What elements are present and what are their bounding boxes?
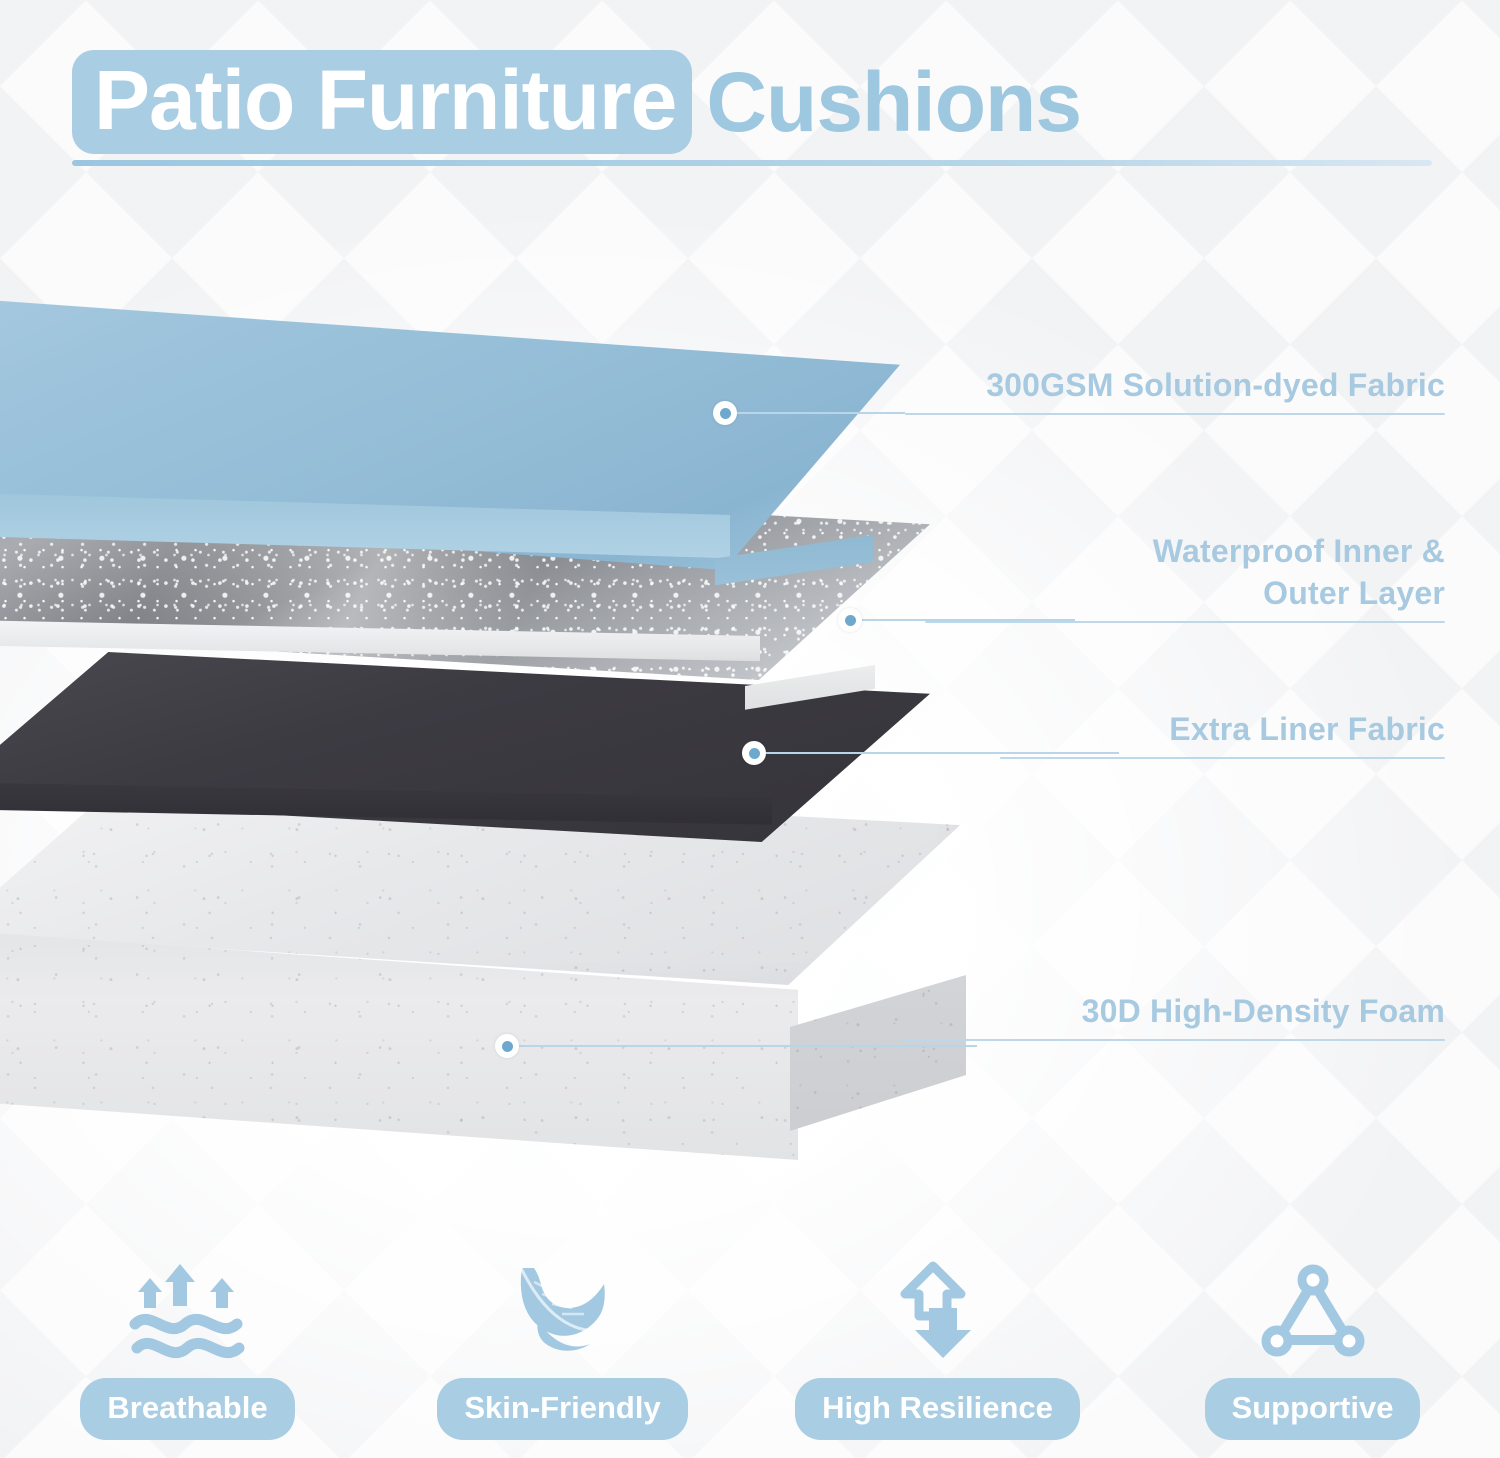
page-title: Patio Furniture Cushions: [0, 54, 1500, 150]
title-underline-rule: [72, 160, 1432, 166]
feature-high-resilience-label: High Resilience: [795, 1378, 1080, 1440]
callout-label-waterproof-underline: [925, 621, 1445, 623]
callout-label-foam-underline: [900, 1039, 1445, 1041]
callout-label-liner-text: Extra Liner Fabric: [1000, 708, 1445, 750]
page-header: Patio Furniture Cushions: [0, 54, 1500, 150]
callout-marker-foam[interactable]: [495, 1034, 519, 1058]
fabric-layer: [0, 300, 900, 630]
up-down-arrows-icon: [873, 1258, 1003, 1366]
callout-label-fabric: 300GSM Solution-dyed Fabric: [905, 364, 1445, 415]
callout-label-foam: 30D High-Density Foam: [900, 990, 1445, 1041]
leader-line-fabric: [735, 412, 905, 414]
callout-label-foam-text: 30D High-Density Foam: [900, 990, 1445, 1032]
marker-dot-icon: [845, 615, 856, 626]
feature-supportive-label: Supportive: [1205, 1378, 1421, 1440]
feature-breathable-label: Breathable: [80, 1378, 294, 1440]
callout-label-waterproof-text-line1: Waterproof Inner &: [925, 530, 1445, 572]
callout-label-waterproof: Waterproof Inner & Outer Layer: [925, 530, 1445, 623]
marker-dot-icon: [720, 408, 731, 419]
feature-supportive[interactable]: Supportive: [1125, 1258, 1500, 1458]
callout-label-waterproof-text-line2: Outer Layer: [925, 572, 1445, 614]
marker-dot-icon: [749, 748, 760, 759]
callout-label-liner-underline: [1000, 757, 1445, 759]
feature-skin-friendly[interactable]: Skin-Friendly: [375, 1258, 750, 1458]
title-highlight-text: Patio Furniture: [72, 50, 692, 154]
callout-marker-liner[interactable]: [742, 741, 766, 765]
marker-dot-icon: [502, 1041, 513, 1052]
feather-icon: [498, 1258, 628, 1366]
callout-label-fabric-text: 300GSM Solution-dyed Fabric: [905, 364, 1445, 406]
product-infographic: Patio Furniture Cushions: [0, 0, 1500, 1458]
exploded-layer-illustration: [0, 300, 1050, 1200]
title-plain-text: Cushions: [692, 54, 1081, 150]
callout-marker-fabric[interactable]: [713, 401, 737, 425]
feature-high-resilience[interactable]: High Resilience: [750, 1258, 1125, 1458]
callout-label-liner: Extra Liner Fabric: [1000, 708, 1445, 759]
feature-badge-row: Breathable Skin-Friendly: [0, 1258, 1500, 1458]
feature-breathable[interactable]: Breathable: [0, 1258, 375, 1458]
breathable-airflow-icon: [123, 1258, 253, 1366]
leader-line-foam: [517, 1045, 977, 1047]
callout-marker-waterproof[interactable]: [838, 608, 862, 632]
feature-skin-friendly-label: Skin-Friendly: [437, 1378, 687, 1440]
molecule-triangle-icon: [1248, 1258, 1378, 1366]
callout-label-fabric-underline: [905, 413, 1445, 415]
